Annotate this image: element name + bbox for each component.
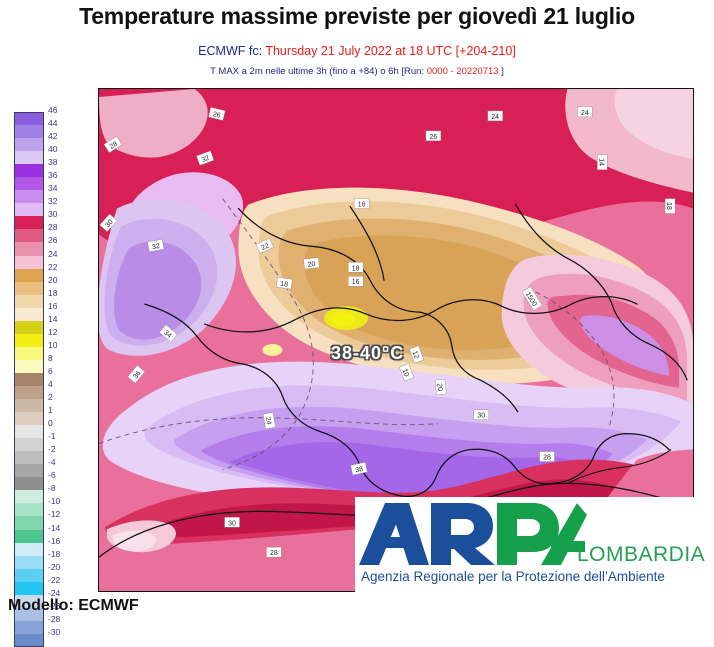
legend-label: -8 (48, 484, 56, 493)
legend-row: -12 (14, 516, 44, 529)
legend-label: 14 (48, 315, 57, 324)
svg-text:32: 32 (152, 243, 161, 251)
forecast-subtitle: ECMWF fc: Thursday 21 July 2022 at 18 UT… (0, 44, 714, 58)
legend-swatch (14, 621, 44, 634)
legend-swatch (14, 556, 44, 569)
weather-map-page: Temperature massime previste per giovedì… (0, 0, 714, 618)
legend-label: 10 (48, 341, 57, 350)
legend-swatch (14, 569, 44, 582)
svg-text:26: 26 (429, 134, 437, 141)
description-prefix: T MAX a 2m nelle ultime 3h (fino a +84) … (210, 66, 424, 77)
legend-row: 22 (14, 269, 44, 282)
legend-swatch (14, 464, 44, 477)
legend-label: 4 (48, 380, 53, 389)
legend-row: 8 (14, 360, 44, 373)
legend-label: 26 (48, 236, 57, 245)
legend-row: -1 (14, 438, 44, 451)
legend-label: -6 (48, 471, 56, 480)
legend-row: -18 (14, 556, 44, 569)
svg-text:14: 14 (597, 158, 604, 166)
legend-label: 18 (48, 289, 57, 298)
svg-text:28: 28 (543, 455, 551, 462)
svg-text:24: 24 (581, 110, 589, 117)
svg-text:20: 20 (307, 261, 316, 269)
svg-text:28: 28 (270, 550, 278, 557)
temperature-legend: 4644424038363432302826242220181614121086… (14, 112, 44, 647)
legend-swatch (14, 503, 44, 516)
legend-row: 24 (14, 256, 44, 269)
svg-text:30: 30 (228, 520, 236, 527)
legend-swatch (14, 334, 44, 347)
svg-text:30: 30 (477, 413, 485, 420)
legend-label: -16 (48, 537, 60, 546)
legend-swatch (14, 530, 44, 543)
legend-row: 36 (14, 177, 44, 190)
legend-row: 26 (14, 242, 44, 255)
legend-row: 40 (14, 151, 44, 164)
legend-swatch (14, 438, 44, 451)
legend-row: 1 (14, 412, 44, 425)
legend-swatch (14, 125, 44, 138)
arpa-lombardia-logo: LOMBARDIA Agenzia Regionale per la Prote… (355, 497, 714, 601)
legend-row: -16 (14, 543, 44, 556)
svg-text:16: 16 (352, 279, 360, 286)
legend-label: 34 (48, 184, 57, 193)
legend-label: 30 (48, 210, 57, 219)
legend-swatch (14, 582, 44, 595)
legend-row: 18 (14, 295, 44, 308)
legend-swatch (14, 425, 44, 438)
legend-row: 34 (14, 190, 44, 203)
legend-label: -14 (48, 524, 60, 533)
legend-row: 12 (14, 334, 44, 347)
legend-swatch (14, 190, 44, 203)
legend-row: -28 (14, 621, 44, 634)
legend-swatch (14, 321, 44, 334)
legend-row: -4 (14, 464, 44, 477)
legend-swatch (14, 477, 44, 490)
legend-label: -10 (48, 497, 60, 506)
legend-row: -8 (14, 490, 44, 503)
model-label: ECMWF fc: (198, 44, 262, 58)
model-footer: Modello: ECMWF (8, 597, 139, 615)
legend-row: 44 (14, 125, 44, 138)
legend-label: -30 (48, 628, 60, 637)
legend-label: -18 (48, 550, 60, 559)
legend-row: 4 (14, 386, 44, 399)
map-annotation-hot-zone: 38-40°C (331, 343, 404, 364)
legend-label: -22 (48, 576, 60, 585)
legend-swatch (14, 138, 44, 151)
legend-row: -2 (14, 451, 44, 464)
legend-row: 38 (14, 164, 44, 177)
legend-swatch (14, 412, 44, 425)
legend-swatch (14, 229, 44, 242)
legend-swatch (14, 269, 44, 282)
legend-row: 16 (14, 308, 44, 321)
legend-swatch (14, 295, 44, 308)
legend-row: 42 (14, 138, 44, 151)
legend-label: -20 (48, 563, 60, 572)
legend-swatch (14, 634, 44, 647)
svg-text:24: 24 (491, 114, 499, 121)
legend-swatch (14, 203, 44, 216)
page-title: Temperature massime previste per giovedì… (0, 3, 714, 30)
legend-swatch (14, 360, 44, 373)
legend-row: 32 (14, 203, 44, 216)
legend-row: 10 (14, 347, 44, 360)
legend-swatch (14, 112, 44, 125)
legend-swatch (14, 373, 44, 386)
legend-label: 20 (48, 276, 57, 285)
legend-label: 12 (48, 328, 57, 337)
legend-row: 30 (14, 216, 44, 229)
legend-label: 32 (48, 197, 57, 206)
svg-text:24: 24 (264, 416, 272, 425)
legend-label: -28 (48, 615, 60, 624)
forecast-description: T MAX a 2m nelle ultime 3h (fino a +84) … (0, 66, 714, 77)
legend-label: 28 (48, 223, 57, 232)
svg-text:16: 16 (358, 202, 366, 209)
legend-label: 8 (48, 354, 53, 363)
legend-label: 2 (48, 393, 53, 402)
legend-row: 20 (14, 282, 44, 295)
legend-swatch (14, 242, 44, 255)
legend-label: 44 (48, 119, 57, 128)
legend-label: 0 (48, 419, 53, 428)
legend-label: 6 (48, 367, 53, 376)
legend-swatch (14, 543, 44, 556)
legend-label: 42 (48, 132, 57, 141)
svg-text:20: 20 (435, 383, 443, 392)
description-suffix: ] (501, 66, 504, 77)
legend-swatch (14, 282, 44, 295)
legend-label: -12 (48, 510, 60, 519)
legend-swatch (14, 451, 44, 464)
legend-label: 40 (48, 145, 57, 154)
legend-label: 24 (48, 250, 57, 259)
legend-row: -6 (14, 477, 44, 490)
run-value: 0000 - 20220713 (427, 66, 499, 77)
legend-label: 1 (48, 406, 53, 415)
arpa-logo-mark (355, 497, 587, 569)
legend-row: 0 (14, 425, 44, 438)
svg-text:18: 18 (352, 265, 360, 272)
legend-row: -14 (14, 530, 44, 543)
legend-label: 22 (48, 263, 57, 272)
legend-swatch (14, 216, 44, 229)
legend-swatch (14, 256, 44, 269)
legend-swatch (14, 516, 44, 529)
legend-swatch (14, 308, 44, 321)
legend-row: -30 (14, 634, 44, 647)
legend-swatch (14, 399, 44, 412)
legend-label: 36 (48, 171, 57, 180)
logo-region-label: LOMBARDIA (577, 543, 705, 567)
logo-subtitle: Agenzia Regionale per la Protezione dell… (361, 569, 665, 584)
legend-label: -1 (48, 432, 56, 441)
legend-row: -20 (14, 569, 44, 582)
legend-row: 14 (14, 321, 44, 334)
legend-swatch (14, 151, 44, 164)
legend-label: 16 (48, 302, 57, 311)
svg-text:18: 18 (280, 281, 289, 289)
legend-row: 46 (14, 112, 44, 125)
legend-label: -4 (48, 458, 56, 467)
legend-row: 6 (14, 373, 44, 386)
legend-label: 38 (48, 158, 57, 167)
legend-swatch (14, 164, 44, 177)
legend-row: 2 (14, 399, 44, 412)
legend-row: 28 (14, 229, 44, 242)
run-info: Thursday 21 July 2022 at 18 UTC [+204-21… (265, 44, 516, 58)
legend-row: -22 (14, 582, 44, 595)
legend-row: -10 (14, 503, 44, 516)
legend-swatch (14, 386, 44, 399)
legend-swatch (14, 347, 44, 360)
legend-swatch (14, 177, 44, 190)
legend-swatch (14, 490, 44, 503)
svg-text:18: 18 (665, 202, 672, 210)
legend-label: 46 (48, 106, 57, 115)
legend-label: -2 (48, 445, 56, 454)
